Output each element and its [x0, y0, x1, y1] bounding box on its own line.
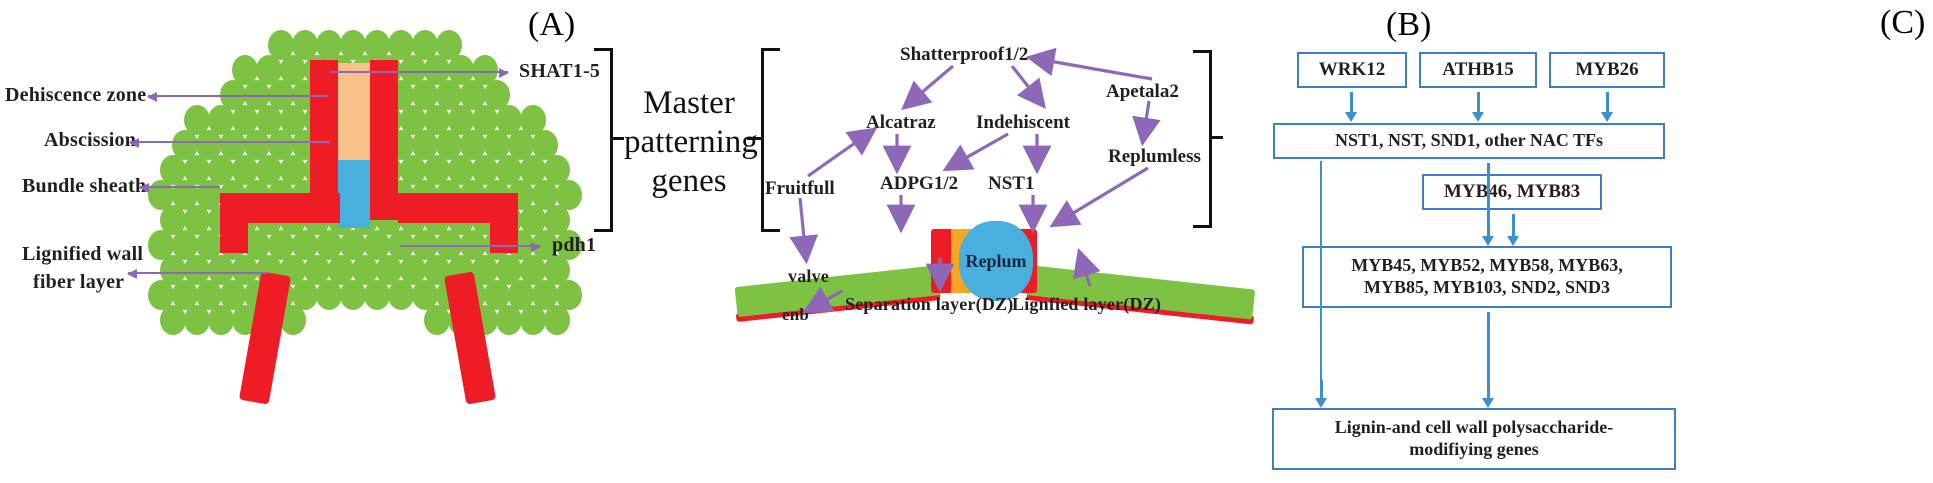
edge-shatterproof-indehiscent — [1012, 66, 1042, 104]
arrow-wrk12-to-nac — [1350, 92, 1353, 113]
arrow-athb15-to-nac — [1477, 92, 1480, 113]
parenchyma-cell — [184, 305, 210, 335]
label-pdh1: pdh1 — [552, 234, 596, 257]
box-lignin-genes-line1: Lignin-and cell wall polysaccharide- — [1335, 417, 1614, 439]
parenchyma-cell — [496, 305, 522, 335]
master-line-3: genes — [624, 162, 754, 201]
panel-b-letter: (B) — [1386, 6, 1431, 44]
parenchyma-cell — [364, 280, 390, 310]
edge-fruitfull-alcatraz — [808, 131, 872, 176]
box-myb-group-line2: MYB85, MYB103, SND2, SND3 — [1364, 277, 1610, 299]
node-shatterproof: Shatterproof1/2 — [900, 44, 1028, 66]
parenchyma-cell — [424, 305, 450, 335]
line-nac-to-lignin — [1320, 161, 1322, 399]
edge-indehiscent-adpg — [948, 134, 1008, 168]
arrow-abscission — [130, 141, 330, 143]
label-enb: enb — [782, 305, 809, 325]
abscission-region — [338, 160, 370, 228]
label-dehiscence-zone: Dehiscence zone — [5, 84, 146, 107]
arrow-shat1-5 — [330, 71, 508, 73]
panel-c-letter: (C) — [1880, 4, 1925, 42]
parenchyma-cell — [316, 280, 342, 310]
arrow-lignified-wall — [128, 272, 268, 274]
box-myb46-83[interactable]: MYB46, MYB83 — [1422, 174, 1602, 210]
box-wrk12[interactable]: WRK12 — [1297, 52, 1407, 88]
box-nac-tfs[interactable]: NST1, NST, SND1, other NAC TFs — [1273, 123, 1665, 159]
label-lignified-wall-line1: Lignified wall — [22, 243, 143, 266]
edge-apetala2-replumless — [1143, 101, 1149, 140]
node-nst1: NST1 — [988, 173, 1034, 195]
parenchyma-cell — [208, 305, 234, 335]
panel-a-letter: (A) — [528, 6, 575, 44]
master-line-1: Master — [624, 84, 754, 123]
node-alcatraz: Alcatraz — [866, 112, 936, 134]
box-lignin-genes[interactable]: Lignin-and cell wall polysaccharide- mod… — [1272, 408, 1676, 470]
arrow-myb46-to-myb-group — [1512, 214, 1515, 237]
label-lignified-layer: Lignfied layer(DZ) — [1012, 294, 1161, 315]
arrow-dehiscence-zone — [148, 95, 328, 97]
box-myb-group[interactable]: MYB45, MYB52, MYB58, MYB63, MYB85, MYB10… — [1302, 246, 1672, 308]
label-bundle-sheath: Bundle sheath — [22, 175, 146, 198]
parenchyma-cell — [340, 280, 366, 310]
arrow-myb-group-to-lignin — [1487, 312, 1490, 399]
bundle-sheath-end-left — [220, 193, 248, 253]
replum-label: Replum — [965, 251, 1026, 272]
edge-shatterproof-alcatraz — [906, 66, 953, 106]
label-lignified-wall-line2: fiber layer — [33, 271, 124, 294]
lignified-strut-right — [370, 60, 398, 220]
bracket-panel-a-right — [594, 48, 613, 232]
arrow-pdh1 — [400, 245, 540, 247]
box-myb-group-line1: MYB45, MYB52, MYB58, MYB63, — [1351, 255, 1622, 277]
bracket-panel-b-right — [1193, 50, 1212, 228]
node-replumless: Replumless — [1108, 146, 1201, 168]
parenchyma-cell — [388, 280, 414, 310]
label-separation-layer: Separation layer(DZ) — [845, 294, 1013, 315]
arrow-myb26-to-nac — [1606, 92, 1609, 113]
dehiscence-zone-region — [338, 63, 370, 173]
parenchyma-cell — [544, 305, 570, 335]
master-line-2: patterning — [624, 123, 754, 162]
box-myb26[interactable]: MYB26 — [1549, 52, 1665, 88]
label-shat1-5: SHAT1-5 — [519, 60, 600, 83]
edge-apetala2-shatterproof — [1032, 58, 1152, 79]
node-adpg: ADPG1/2 — [880, 173, 958, 195]
bundle-sheath-end-right — [490, 193, 518, 253]
bracket-panel-b-left — [761, 48, 780, 232]
box-lignin-genes-line2: modifiying genes — [1409, 439, 1539, 461]
arrow-bundle-sheath — [140, 186, 220, 188]
replum: Replum — [959, 221, 1033, 301]
node-indehiscent: Indehiscent — [976, 112, 1070, 134]
arrow-nac-to-myb-group — [1487, 163, 1490, 237]
box-athb15[interactable]: ATHB15 — [1419, 52, 1537, 88]
node-apetala2: Apetala2 — [1106, 81, 1179, 103]
bracket-panel-a-nub — [610, 137, 624, 140]
node-fruitfull: Fruitfull — [765, 178, 835, 200]
bracket-panel-b-left-nub — [747, 137, 761, 140]
label-abscission: Abscission — [44, 129, 136, 152]
lignified-layer-left — [931, 229, 953, 293]
master-patterning-genes-label: Master patterning genes — [624, 84, 754, 201]
arrow-nac-to-lignin — [1320, 380, 1323, 399]
label-valve: valve — [788, 266, 829, 287]
parenchyma-cell — [160, 305, 186, 335]
parenchyma-cell — [520, 305, 546, 335]
bracket-panel-b-right-nub — [1209, 136, 1223, 139]
figure-root: (A) Dehiscence zone Abscission Bundle sh… — [0, 0, 1933, 483]
